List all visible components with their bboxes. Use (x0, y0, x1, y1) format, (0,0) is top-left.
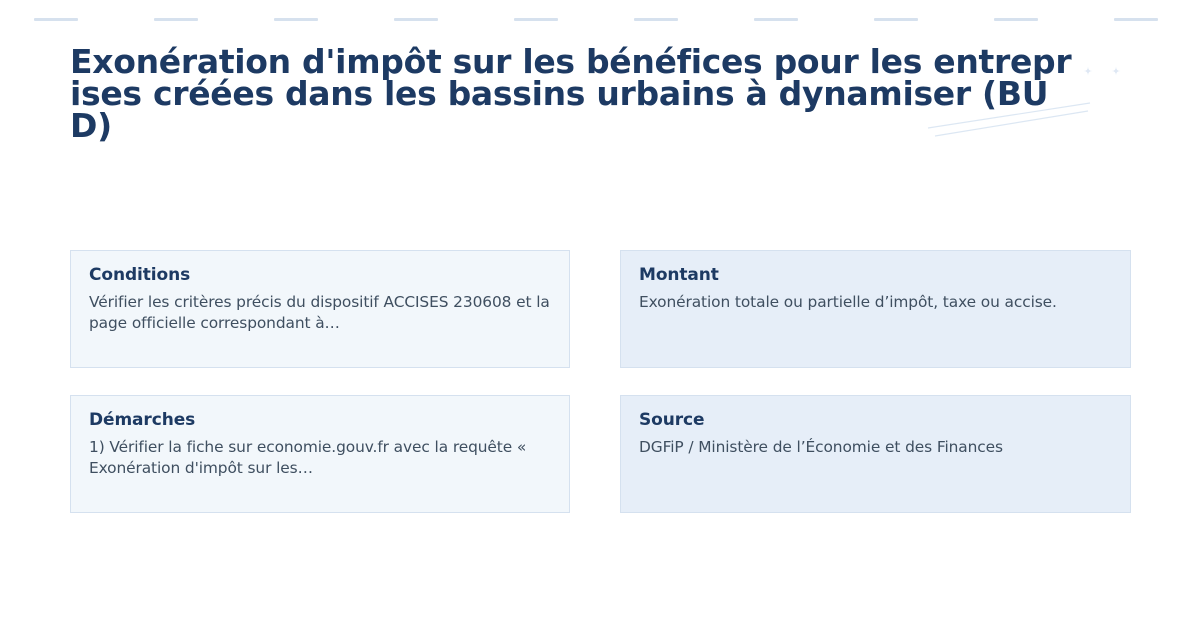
top-dash-9 (994, 18, 1038, 21)
card-body-conditions: Vérifier les critères précis du disposit… (89, 292, 551, 334)
card-title-source: Source (639, 410, 1112, 430)
card-body-demarches: 1) Vérifier la fiche sur economie.gouv.f… (89, 437, 551, 479)
page-title: Exonération d'impôt sur les bénéfices po… (70, 46, 1080, 142)
top-dash-5 (514, 18, 558, 21)
card-title-conditions: Conditions (89, 265, 551, 285)
top-dash-6 (634, 18, 678, 21)
card-title-demarches: Démarches (89, 410, 551, 430)
card-source: Source DGFiP / Ministère de l’Économie e… (620, 395, 1131, 513)
top-dash-2 (154, 18, 198, 21)
card-title-montant: Montant (639, 265, 1112, 285)
info-card-grid: Conditions Vérifier les critères précis … (70, 250, 1131, 513)
card-montant: Montant Exonération totale ou partielle … (620, 250, 1131, 368)
top-dash-10 (1114, 18, 1158, 21)
top-dash-1 (34, 18, 78, 21)
top-dash-3 (274, 18, 318, 21)
infographic-page: Exonération d'impôt sur les bénéfices po… (0, 0, 1200, 630)
card-body-source: DGFiP / Ministère de l’Économie et des F… (639, 437, 1112, 458)
card-conditions: Conditions Vérifier les critères précis … (70, 250, 570, 368)
top-dash-7 (754, 18, 798, 21)
card-demarches: Démarches 1) Vérifier la fiche sur econo… (70, 395, 570, 513)
top-dash-8 (874, 18, 918, 21)
card-body-montant: Exonération totale ou partielle d’impôt,… (639, 292, 1112, 313)
title-block: Exonération d'impôt sur les bénéfices po… (70, 46, 1080, 142)
sparkle-icon-2 (1112, 67, 1121, 76)
sparkle-icon-1 (1084, 67, 1093, 76)
top-dash-strip (0, 18, 1200, 22)
top-dash-4 (394, 18, 438, 21)
